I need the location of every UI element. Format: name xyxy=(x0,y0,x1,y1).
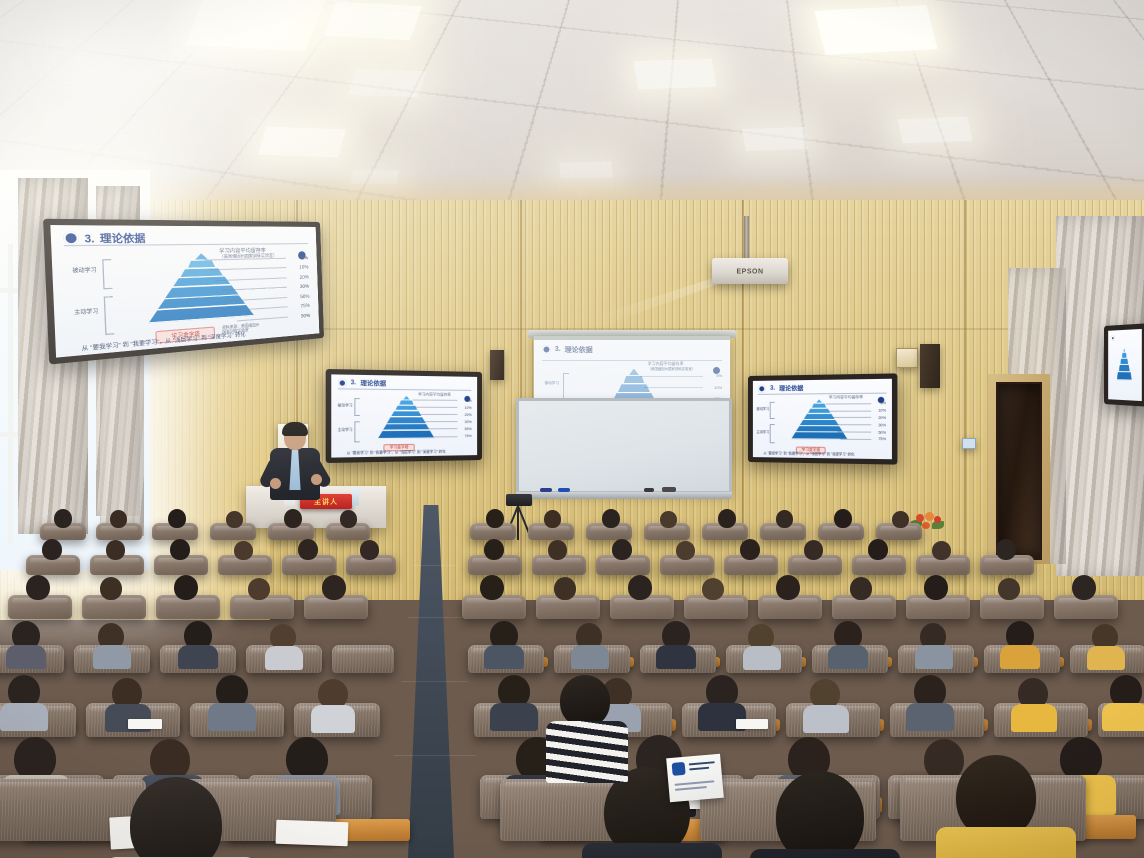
pyramid-value-label: 50% xyxy=(878,430,886,434)
pyramid-value-label: 75% xyxy=(878,437,886,441)
pyramid-group-label-active: 主动学习 xyxy=(67,307,105,316)
pyramid-layer xyxy=(399,400,414,406)
pyramid-layer xyxy=(808,409,831,414)
pyramid-group-label-passive: 被动学习 xyxy=(336,403,354,408)
desk-paper xyxy=(736,719,768,729)
ceiling-light-panel xyxy=(634,59,717,90)
pyramid-value-label: 5% xyxy=(467,399,472,403)
whiteboard-marker[interactable] xyxy=(540,488,552,492)
slide-header: 3. 理论依据 xyxy=(542,345,593,355)
pyramid-value-label: 30% xyxy=(465,420,472,424)
wall-speaker xyxy=(920,344,940,388)
pyramid-group-label-active: 主动学习 xyxy=(336,428,354,433)
pyramid-layer xyxy=(795,426,843,433)
whiteboard-eraser[interactable] xyxy=(662,487,676,492)
institution-logo-icon xyxy=(64,232,80,246)
presenter xyxy=(262,424,328,500)
pyramid-value-label: 50% xyxy=(465,427,472,431)
presenter-hand-left xyxy=(270,478,281,489)
slide-header-number: 3. xyxy=(351,380,356,386)
pyramid-layer xyxy=(1117,372,1132,381)
desk-paper xyxy=(276,820,349,846)
pyramid-layer xyxy=(386,417,426,424)
pyramid-layer xyxy=(803,414,834,420)
ceiling-light-panel xyxy=(897,117,972,143)
projector-mount-pole xyxy=(744,216,749,262)
pyramid-layer xyxy=(1119,365,1130,372)
learning-pyramid-chart xyxy=(1117,348,1132,388)
pyramid-value-label: 20% xyxy=(465,413,472,417)
wall-speaker-left xyxy=(490,350,504,380)
pyramid-layer xyxy=(1123,348,1125,353)
pyramid-value-label: 30% xyxy=(878,423,886,427)
slide-learning-pyramid: 3. 理论依据 学习内容平均留存率 xyxy=(331,374,477,457)
pyramid-group-label-passive: 被动学习 xyxy=(756,407,771,411)
pyramid-value-label: 30% xyxy=(300,284,310,291)
front-right-monitor[interactable]: 3. 理论依据 学习内容平均留存率 xyxy=(748,373,897,464)
front-left-monitor[interactable]: 3. 理论依据 学习内容平均留存率 xyxy=(326,369,482,463)
slide-header: 3. 理论依据 xyxy=(758,383,803,393)
conference-handout[interactable] xyxy=(666,754,724,803)
pyramid-value-label: 10% xyxy=(299,264,309,270)
whiteboard-marker-tray xyxy=(516,492,732,499)
institution-logo-icon xyxy=(542,345,551,354)
ceiling-projector: EPSON xyxy=(712,258,788,284)
pyramid-group-label-active: 主动学习 xyxy=(756,430,771,434)
slide-learning-pyramid: 3. 理论依据 学习内容平均留存率 xyxy=(753,379,892,459)
pyramid-layer xyxy=(382,424,430,431)
right-wall-monitor-screen xyxy=(1108,329,1142,401)
pyramid-value-label: 75% xyxy=(300,303,309,310)
pyramid-value-label: 5% xyxy=(301,255,308,261)
wall-clock xyxy=(896,348,918,368)
pyramid-layer xyxy=(617,384,650,393)
pyramid-layer xyxy=(799,420,839,426)
pyramid-layer xyxy=(1122,353,1127,359)
slide-header-title: 理论依据 xyxy=(779,383,803,392)
pyramid-layer xyxy=(815,399,823,403)
pyramid-value-label: 50% xyxy=(300,293,310,300)
front-left-monitor-screen: 3. 理论依据 学习内容平均留存率 xyxy=(331,374,477,457)
pyramid-value-label: 10% xyxy=(878,409,886,413)
slide-header-title: 理论依据 xyxy=(565,345,593,355)
pyramid-layer xyxy=(623,376,644,385)
pyramid-value-label: 20% xyxy=(299,274,309,280)
pyramid-value-label: 75% xyxy=(465,434,472,438)
desk-paper xyxy=(128,719,162,729)
whiteboard-marker[interactable] xyxy=(644,488,654,492)
pyramid-layer xyxy=(629,369,640,376)
slide-header-number: 3. xyxy=(770,385,775,391)
left-wall-monitor-screen: 3. 理论依据 学习内容平均留存率 （美国缅因州国家训练实验室） xyxy=(50,225,319,358)
water-bottle xyxy=(352,488,359,506)
pyramid-value-label: 20% xyxy=(878,416,886,420)
pyramid-group-label-passive: 被动学习 xyxy=(540,381,564,385)
institution-logo-icon xyxy=(337,378,346,387)
front-right-monitor-screen: 3. 理论依据 学习内容平均留存率 xyxy=(753,379,892,459)
institution-logo-icon xyxy=(672,762,686,776)
pyramid-layer xyxy=(403,396,411,401)
pyramid-layer xyxy=(378,431,435,439)
whiteboard[interactable] xyxy=(516,398,732,494)
slide-header-number: 3. xyxy=(84,232,95,244)
pyramid-layer xyxy=(187,260,216,269)
slide-footer: 从 "要我学习" 到 "我要学习"，从 "浅层学习" 到 "深度学习" 转化 xyxy=(347,449,446,456)
audience-seating xyxy=(0,505,1144,858)
slide-footer: 从 "要我学习" 到 "我要学习"，从 "浅层学习" 到 "深度学习" 转化 xyxy=(763,451,854,457)
pyramid-value-label: 90% xyxy=(301,313,310,320)
whiteboard-marker[interactable] xyxy=(558,488,570,492)
learning-pyramid-chart xyxy=(144,252,256,335)
slide-header: 3. 理论依据 xyxy=(337,378,386,388)
right-wall-monitor[interactable] xyxy=(1104,323,1144,406)
presenter-hair xyxy=(282,422,308,436)
ceiling-light-panel xyxy=(815,5,938,55)
slide-header-title: 理论依据 xyxy=(360,378,386,388)
pyramid-value-label: 5% xyxy=(716,373,722,378)
slide-header-number: 3. xyxy=(555,346,561,353)
ceiling-light-panel xyxy=(742,127,808,151)
projector-brand-label: EPSON xyxy=(736,268,763,275)
slide-learning-pyramid: 3. 理论依据 学习内容平均留存率 （美国缅因州国家训练实验室） xyxy=(50,225,319,358)
institution-logo-icon xyxy=(1111,336,1115,341)
institution-logo-icon xyxy=(758,384,766,392)
pyramid-value-label: 10% xyxy=(714,385,722,390)
pyramid-value-label: 10% xyxy=(465,406,472,410)
lecture-hall-photo: 3. 理论依据 学习内容平均留存率 （美国缅因州国家训练实验室） xyxy=(0,0,1144,858)
pyramid-layer xyxy=(1120,358,1128,364)
pyramid-value-label: 5% xyxy=(880,401,886,405)
presenter-hand-right xyxy=(311,474,322,485)
pyramid-layer xyxy=(812,404,827,409)
pyramid-group-label-passive: 被动学习 xyxy=(65,266,103,274)
slide-learning-pyramid xyxy=(1108,329,1142,401)
